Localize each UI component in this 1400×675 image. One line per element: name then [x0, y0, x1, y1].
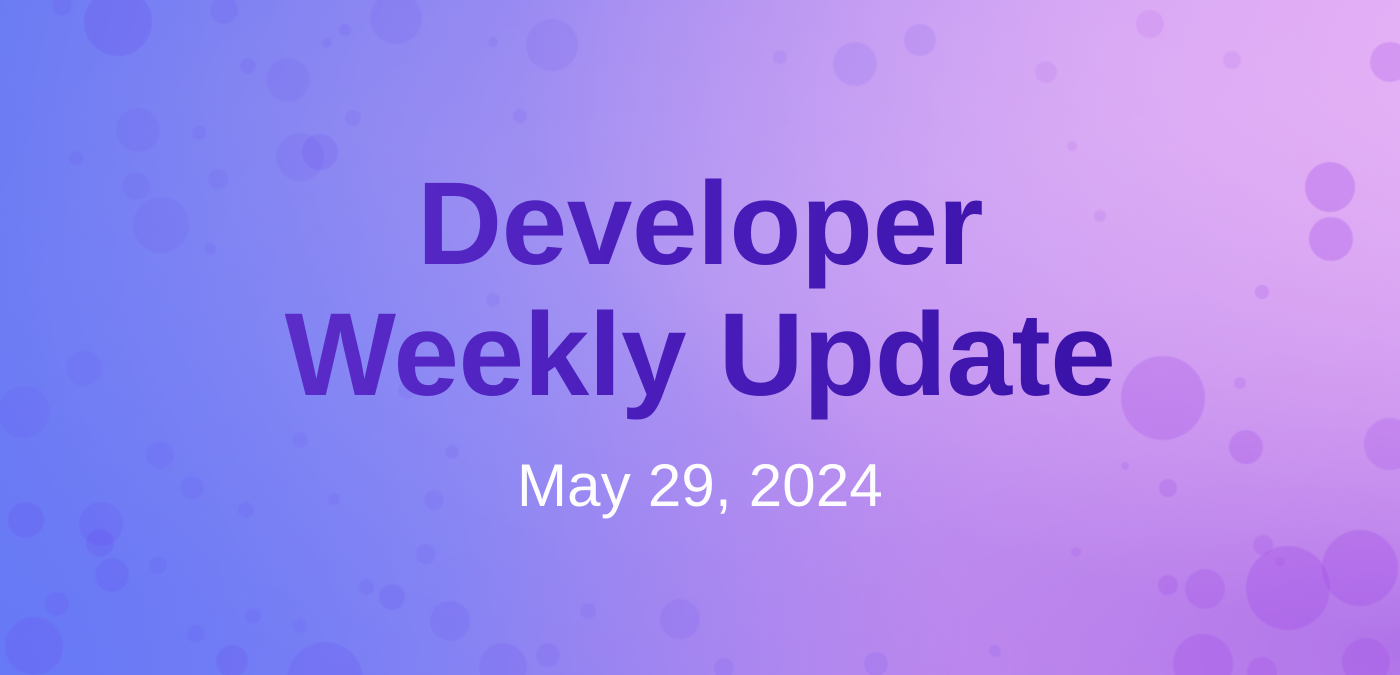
page-subtitle-date: May 29, 2024: [517, 456, 883, 516]
developer-weekly-update-banner: Developer Weekly Update May 29, 2024: [0, 0, 1400, 675]
page-title: Developer Weekly Update: [285, 159, 1116, 421]
page-title-line-1: Developer: [285, 159, 1116, 290]
banner-content: Developer Weekly Update May 29, 2024: [0, 0, 1400, 675]
page-title-line-2: Weekly Update: [285, 290, 1116, 421]
